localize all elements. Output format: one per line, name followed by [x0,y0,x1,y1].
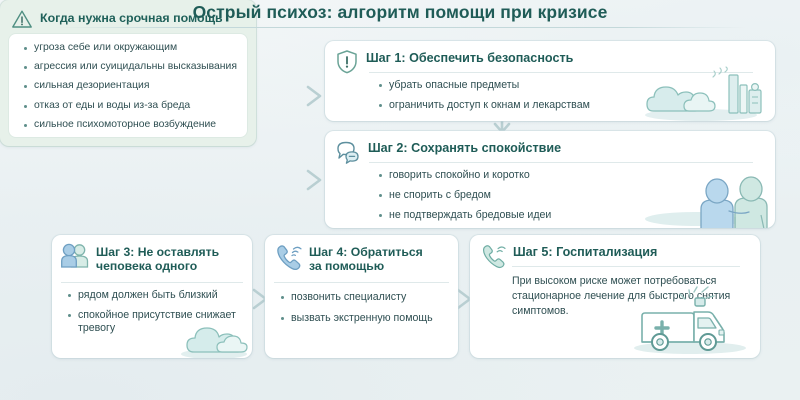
step-5-heading: Шаг 5: Госпитализация [513,243,657,260]
list-item: убрать опасные предметы [377,79,590,92]
infographic-stage: Острый психоз: алгоритм помощи при кризи… [0,0,800,400]
list-item: угроза себе или окружающим [22,42,239,55]
list-item: сильная дезориентация [22,80,239,93]
step-4-card[interactable]: Шаг 4: Обратиться за помощью позвонить с… [265,235,458,358]
step-4-list: позвонить специалисту вызвать экстренную… [265,235,458,333]
list-item: не подтверждать бредовые идеи [377,209,551,222]
title-divider [55,27,745,28]
list-item: не спорить с бредом [377,189,551,202]
step-1-card[interactable]: Шаг 1: Обеспечить безопасность убрать оп… [325,41,775,121]
warning-list: угроза себе или окружающим агрессия или … [9,34,247,131]
step-5-body: При высоком риске может потребоваться ст… [512,274,744,319]
step-5-divider [512,266,740,267]
list-item: отказ от еды и воды из-за бреда [22,100,239,113]
phone-signal-icon [480,243,506,269]
list-item: говорить спокойно и коротко [377,169,551,182]
step-3-card[interactable]: Шаг 3: Не оставлять чеповека одного рядо… [52,235,252,358]
list-item: ограничить доступ к окнам и лекарствам [377,99,590,112]
list-item: агрессия или суицидальны высказывания [22,61,239,74]
step-1-list: убрать опасные предметы ограничить досту… [325,41,590,119]
two-people-illustration [639,163,769,228]
step-2-card[interactable]: Шаг 2: Сохранять спокойствие говорить сп… [325,131,775,228]
step-2-list: говорить спокойно и коротко не спорить с… [325,131,551,228]
step-5-card[interactable]: Шаг 5: Госпитализация При высоком риске … [470,235,760,358]
step-3-list: рядом должен быть близкий спокойное прис… [52,235,252,342]
list-item: вызвать экстренную помощь [279,312,452,325]
list-item: спокойное присутствие снижает тревогу [66,309,244,335]
warning-list-panel: угроза себе или окружающим агрессия или … [9,34,247,137]
list-item: сильное психомоторное возбуждение [22,119,239,132]
step-5-header: Шаг 5: Госпитализация [470,235,760,269]
list-item: позвонить специалисту [279,291,452,304]
list-item: рядом должен быть близкий [66,289,244,302]
page-title: Острый психоз: алгоритм помощи при кризи… [0,2,800,23]
